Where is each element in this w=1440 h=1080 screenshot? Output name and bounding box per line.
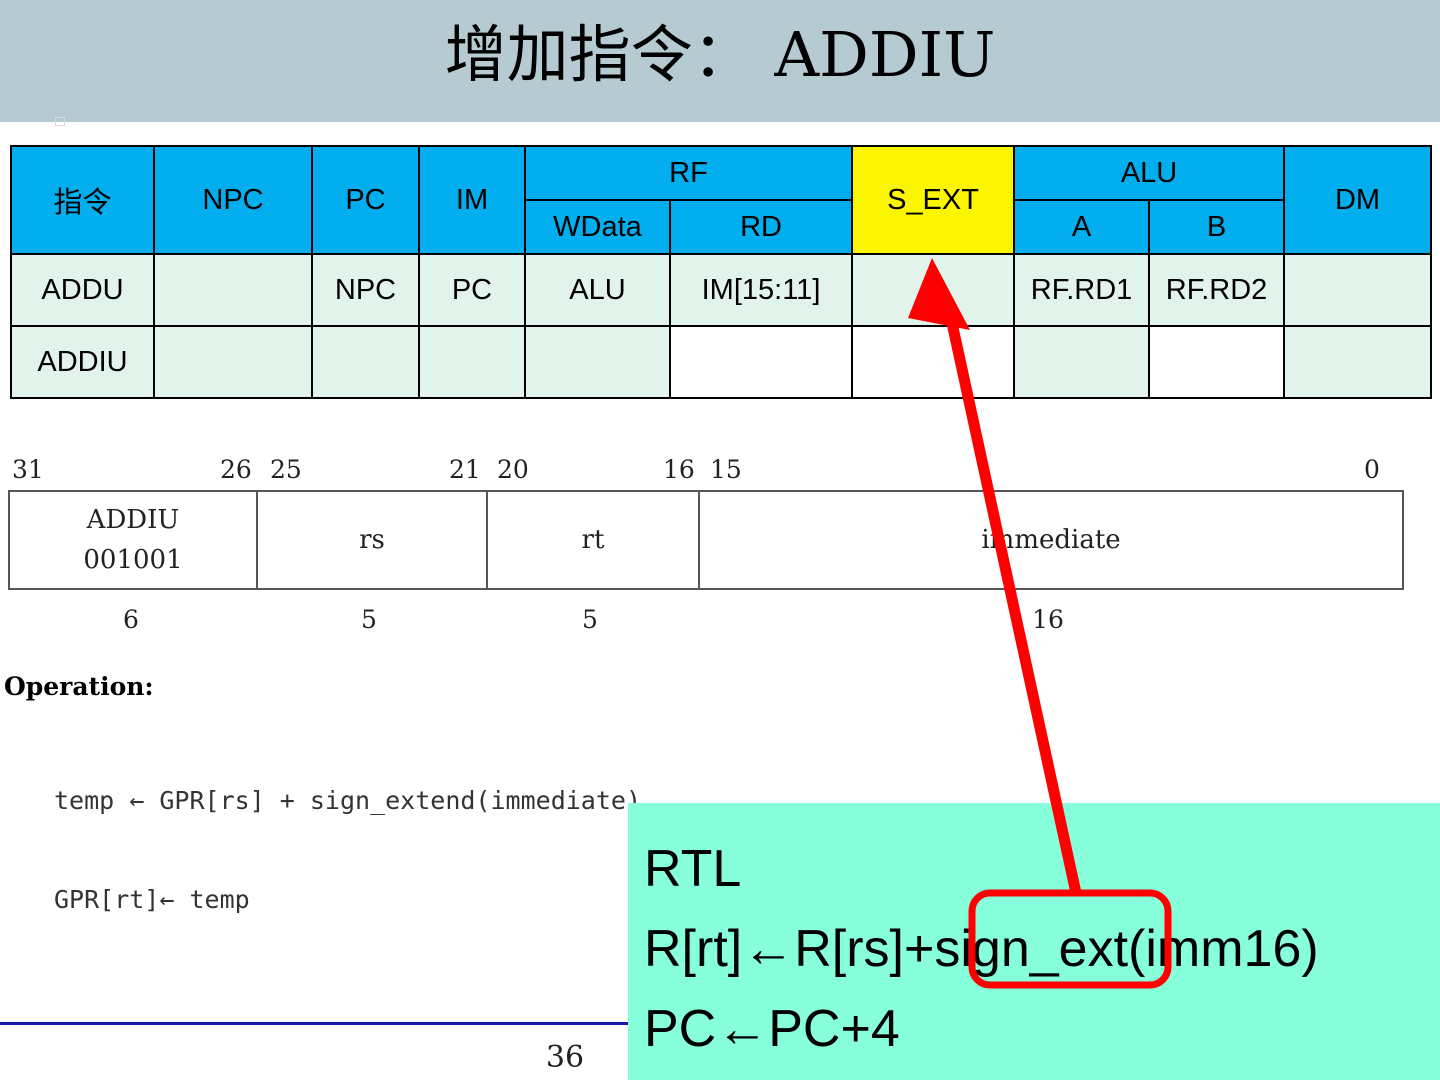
table-header-row-1: 指令 NPC PC IM RF S_EXT ALU DM	[11, 146, 1431, 200]
rtl-pc-update: PC←PC+4	[644, 989, 1440, 1069]
rtl-heading: RTL	[644, 829, 1440, 909]
width-rt: 5	[484, 605, 696, 635]
header-s-ext: S_EXT	[852, 146, 1014, 254]
cell-addiu-instruction: ADDIU	[11, 326, 154, 398]
cell-addu-rf-rd: IM[15:11]	[670, 254, 852, 326]
cell-addu-rf-wdata: ALU	[525, 254, 670, 326]
stray-artifact	[55, 117, 65, 126]
bit-label-16: 16	[663, 455, 695, 485]
operation-line-1: temp ← GPR[rs] + sign_extend(immediate)	[54, 784, 641, 817]
header-alu-group: ALU	[1014, 146, 1284, 200]
header-npc: NPC	[154, 146, 312, 254]
cell-addu-pc: NPC	[312, 254, 419, 326]
header-alu-a: A	[1014, 200, 1149, 254]
header-rf-wdata: WData	[525, 200, 670, 254]
cell-addu-instruction: ADDU	[11, 254, 154, 326]
bit-index-labels-top: 31 26 25 21 20 16 15 0	[8, 455, 1408, 485]
field-rt: rt	[486, 492, 698, 588]
cell-addu-alu-a: RF.RD1	[1014, 254, 1149, 326]
operation-line-2: GPR[rt]← temp	[54, 883, 641, 916]
bit-label-0: 0	[1364, 455, 1380, 485]
slide-root: 增加指令： ADDIU 指令 NPC PC IM RF S_EXT ALU	[0, 0, 1440, 1080]
cell-addu-im: PC	[419, 254, 525, 326]
cell-addiu-rf-rd	[670, 326, 852, 398]
bit-label-25: 25	[270, 455, 302, 485]
rtl-expression: R[rt]←R[rs]+sign_ext(imm16)	[644, 909, 1440, 989]
width-opcode: 6	[8, 605, 254, 635]
header-instruction: 指令	[11, 146, 154, 254]
bit-label-26: 26	[220, 455, 252, 485]
bit-label-15: 15	[710, 455, 742, 485]
field-width-labels: 6 5 5 16	[8, 605, 1408, 635]
field-opcode: ADDIU 001001	[10, 492, 256, 588]
bit-label-31: 31	[12, 455, 44, 485]
operation-heading: Operation:	[4, 672, 154, 701]
width-immediate: 16	[696, 605, 1400, 635]
field-rs-name: rs	[359, 520, 385, 560]
cell-addiu-s-ext	[852, 326, 1014, 398]
table-row: ADDIU	[11, 326, 1431, 398]
width-rs: 5	[254, 605, 484, 635]
cell-addiu-alu-b	[1149, 326, 1284, 398]
bit-label-20: 20	[497, 455, 529, 485]
field-opcode-name: ADDIU	[87, 500, 180, 540]
cell-addiu-npc	[154, 326, 312, 398]
field-immediate: immediate	[698, 492, 1402, 588]
cell-addiu-rf-wdata	[525, 326, 670, 398]
field-rt-name: rt	[582, 520, 605, 560]
cell-addu-dm	[1284, 254, 1431, 326]
title-bar: 增加指令： ADDIU	[0, 0, 1440, 122]
header-rf-group: RF	[525, 146, 852, 200]
rtl-callout-box: RTL R[rt]←R[rs]+sign_ext(imm16) PC←PC+4	[628, 803, 1440, 1080]
field-rs: rs	[256, 492, 486, 588]
header-dm: DM	[1284, 146, 1431, 254]
page-title: 增加指令： ADDIU	[0, 12, 1440, 98]
cell-addu-s-ext	[852, 254, 1014, 326]
cell-addiu-pc	[312, 326, 419, 398]
table-row: ADDU NPC PC ALU IM[15:11] RF.RD1 RF.RD2	[11, 254, 1431, 326]
control-signal-table: 指令 NPC PC IM RF S_EXT ALU DM WData RD A …	[10, 145, 1432, 399]
cell-addiu-im	[419, 326, 525, 398]
bit-label-21: 21	[449, 455, 481, 485]
field-immediate-name: immediate	[981, 520, 1120, 560]
cell-addiu-dm	[1284, 326, 1431, 398]
cell-addu-alu-b: RF.RD2	[1149, 254, 1284, 326]
header-alu-b: B	[1149, 200, 1284, 254]
header-im: IM	[419, 146, 525, 254]
instruction-field-box: ADDIU 001001 rs rt immediate	[8, 490, 1404, 590]
cell-addiu-alu-a	[1014, 326, 1149, 398]
cell-addu-npc	[154, 254, 312, 326]
header-pc: PC	[312, 146, 419, 254]
operation-code-block: temp ← GPR[rs] + sign_extend(immediate) …	[54, 718, 641, 982]
field-opcode-bits: 001001	[83, 540, 182, 580]
header-rf-rd: RD	[670, 200, 852, 254]
instruction-format-diagram: 31 26 25 21 20 16 15 0 ADDIU 001001 rs r…	[8, 455, 1408, 640]
